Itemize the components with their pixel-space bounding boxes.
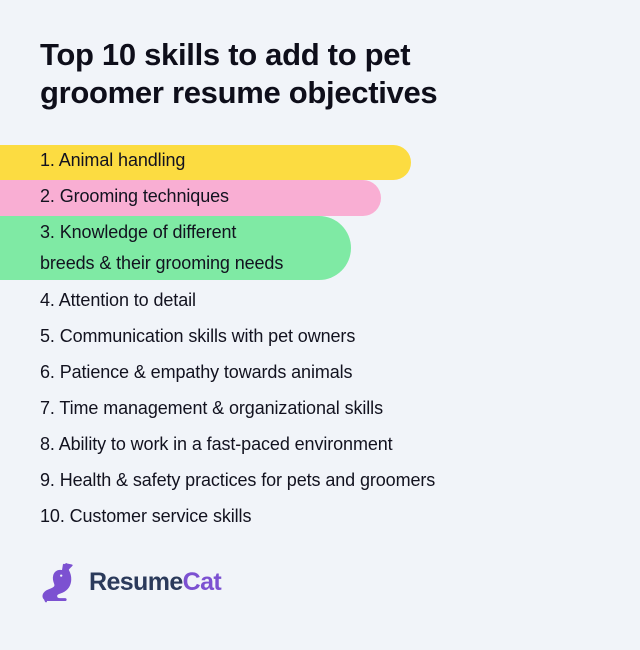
logo-text-cat: Cat (183, 568, 221, 596)
list-item: 9. Health & safety practices for pets an… (40, 465, 435, 496)
list-item: 10. Customer service skills (40, 501, 251, 532)
list-item: 5. Communication skills with pet owners (40, 321, 355, 352)
list-item: 7. Time management & organizational skil… (40, 393, 383, 424)
list-item: 2. Grooming techniques (40, 181, 229, 212)
cat-icon (40, 561, 80, 603)
list-item: 8. Ability to work in a fast-paced envir… (40, 429, 393, 460)
logo-wordmark: ResumeCat (89, 570, 221, 595)
list-item: 3. Knowledge of different breeds & their… (40, 217, 283, 279)
list-item: 1. Animal handling (40, 145, 185, 176)
logo-text-resume: Resume (89, 568, 183, 596)
resumecat-logo[interactable]: ResumeCat (40, 561, 221, 603)
page-title: Top 10 skills to add to pet groomer resu… (40, 36, 520, 112)
list-item: 4. Attention to detail (40, 285, 196, 316)
list-item: 6. Patience & empathy towards animals (40, 357, 352, 388)
infographic-page: Top 10 skills to add to pet groomer resu… (0, 0, 640, 650)
